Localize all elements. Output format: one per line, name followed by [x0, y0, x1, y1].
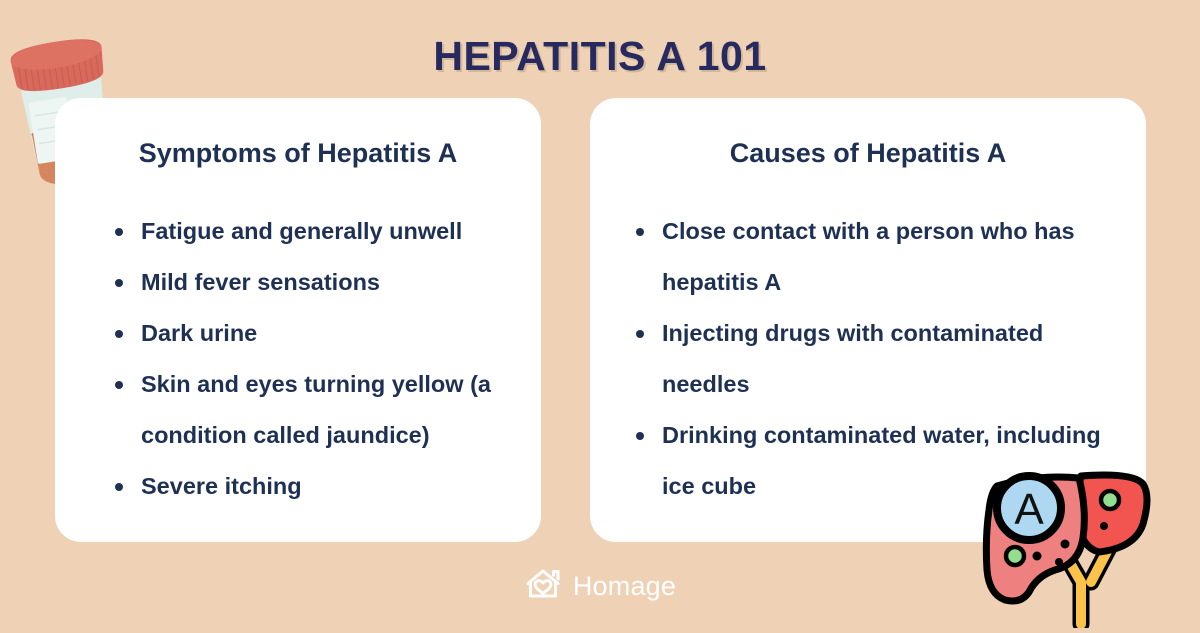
list-item-label: Dark urine [141, 308, 527, 359]
list-item-label: Close contact with a person who has hepa… [662, 206, 1108, 308]
list-item: Mild fever sensations [107, 257, 527, 308]
card-causes-heading: Causes of Hepatitis A [590, 138, 1146, 169]
footer-logo: Homage [0, 563, 1200, 609]
bullet-dot-icon [636, 330, 644, 338]
list-item-label: Injecting drugs with contaminated needle… [662, 308, 1108, 410]
list-item-label: Severe itching [141, 461, 527, 512]
card-symptoms: Symptoms of Hepatitis A Fatigue and gene… [55, 98, 541, 542]
page-title: HEPATITIS A 101 [0, 33, 1200, 80]
list-item-label: Fatigue and generally unwell [141, 206, 527, 257]
list-item: Severe itching [107, 461, 527, 512]
logo-wordmark: Homage [573, 571, 676, 602]
bullet-dot-icon [115, 483, 123, 491]
list-item: Skin and eyes turning yellow (a conditio… [107, 359, 527, 461]
bullet-dot-icon [636, 228, 644, 236]
bullet-dot-icon [636, 432, 644, 440]
card-symptoms-heading: Symptoms of Hepatitis A [55, 138, 541, 169]
list-item-label: Mild fever sensations [141, 257, 527, 308]
list-item: Close contact with a person who has hepa… [628, 206, 1108, 308]
list-item: Fatigue and generally unwell [107, 206, 527, 257]
bullet-dot-icon [115, 381, 123, 389]
liver-badge-label: A [1014, 485, 1044, 534]
house-heart-icon [524, 567, 564, 606]
bullet-dot-icon [115, 228, 123, 236]
list-item: Dark urine [107, 308, 527, 359]
bullet-dot-icon [115, 330, 123, 338]
list-item: Injecting drugs with contaminated needle… [628, 308, 1108, 410]
list-item-label: Skin and eyes turning yellow (a conditio… [141, 359, 527, 461]
symptoms-list: Fatigue and generally unwell Mild fever … [107, 206, 527, 512]
bullet-dot-icon [115, 279, 123, 287]
